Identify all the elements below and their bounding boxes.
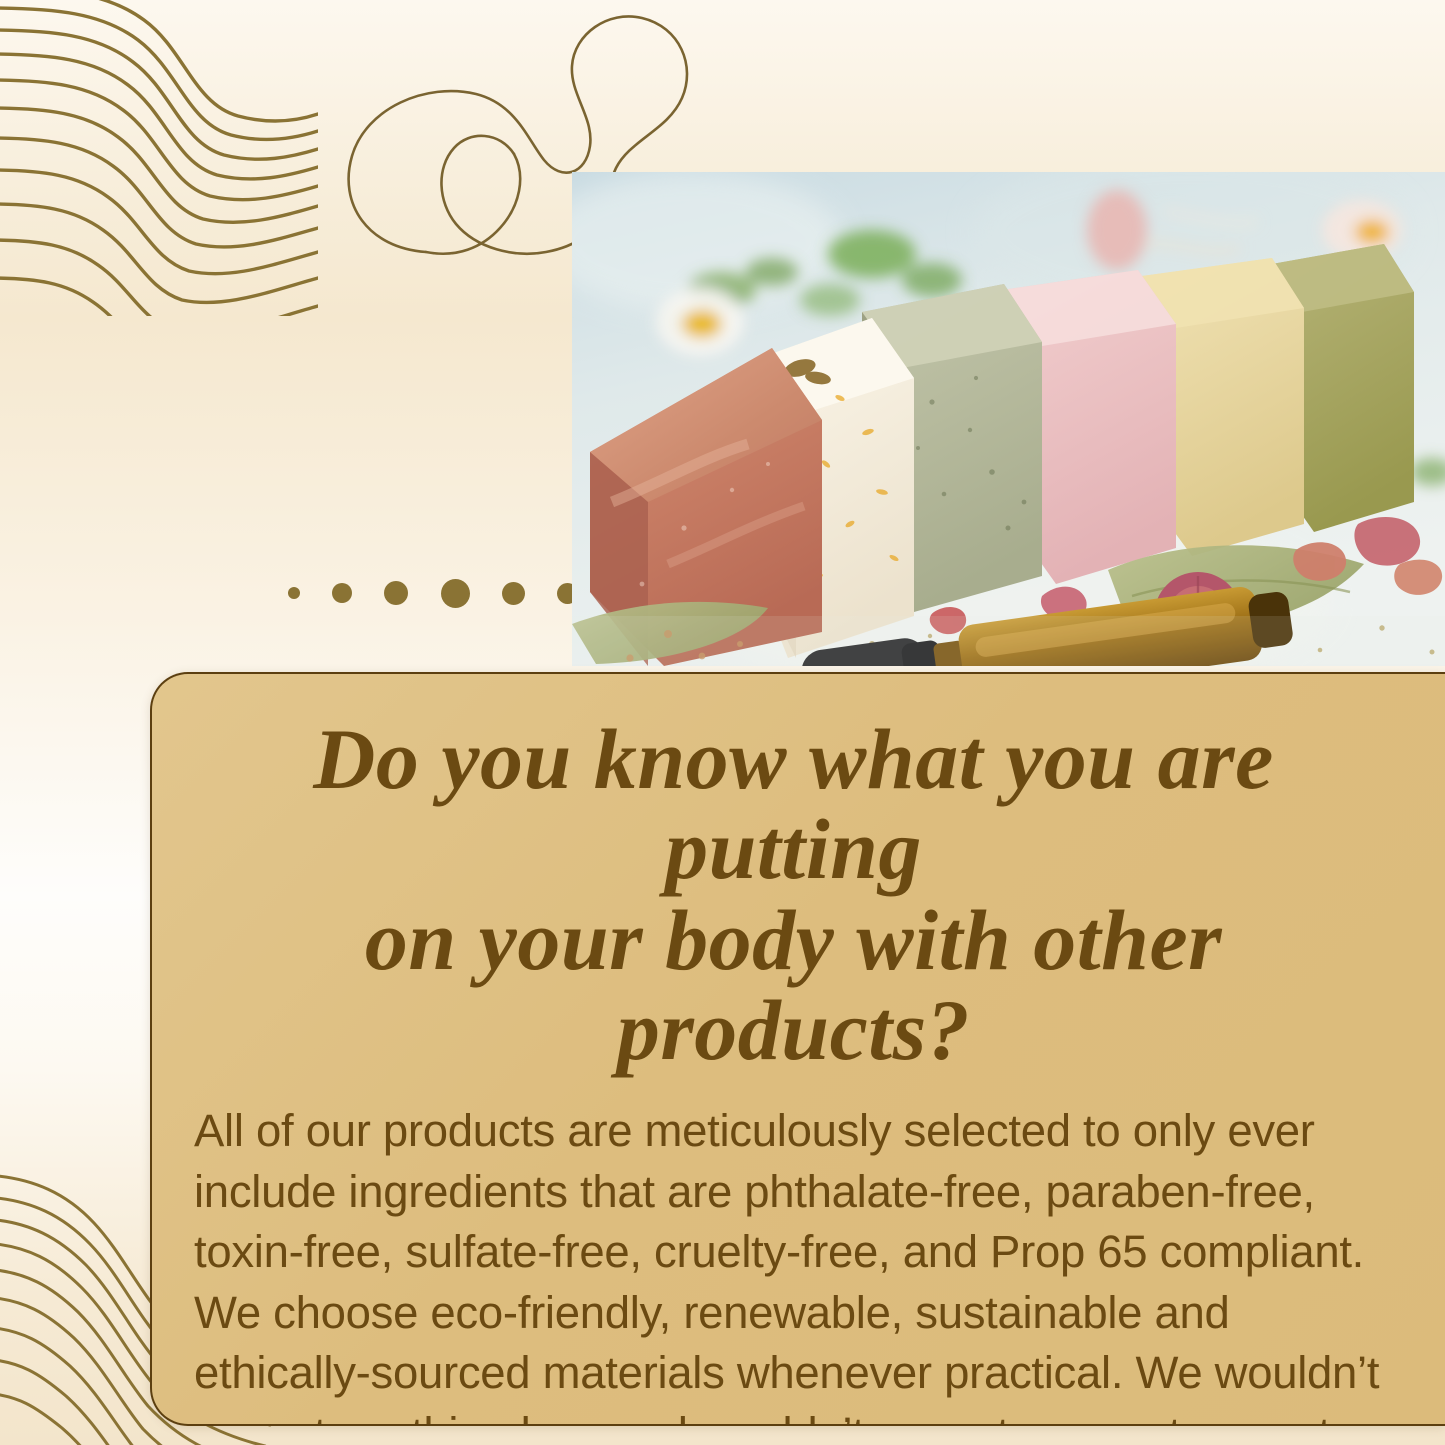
corner-waves-top-left <box>0 0 318 316</box>
dot-1 <box>288 587 300 599</box>
page-title: Do you know what you are putting on your… <box>194 714 1393 1075</box>
dot-3 <box>384 581 408 605</box>
dot-2 <box>332 583 352 603</box>
promo-graphic: Do you know what you are putting on your… <box>0 0 1445 1445</box>
dot-4 <box>441 579 470 608</box>
decorative-dots-row <box>288 575 578 611</box>
dot-5 <box>502 582 525 605</box>
soap-product-photo <box>572 172 1445 666</box>
message-card: Do you know what you are putting on your… <box>150 672 1445 1426</box>
body-paragraph: All of our products are meticulously sel… <box>194 1101 1393 1426</box>
